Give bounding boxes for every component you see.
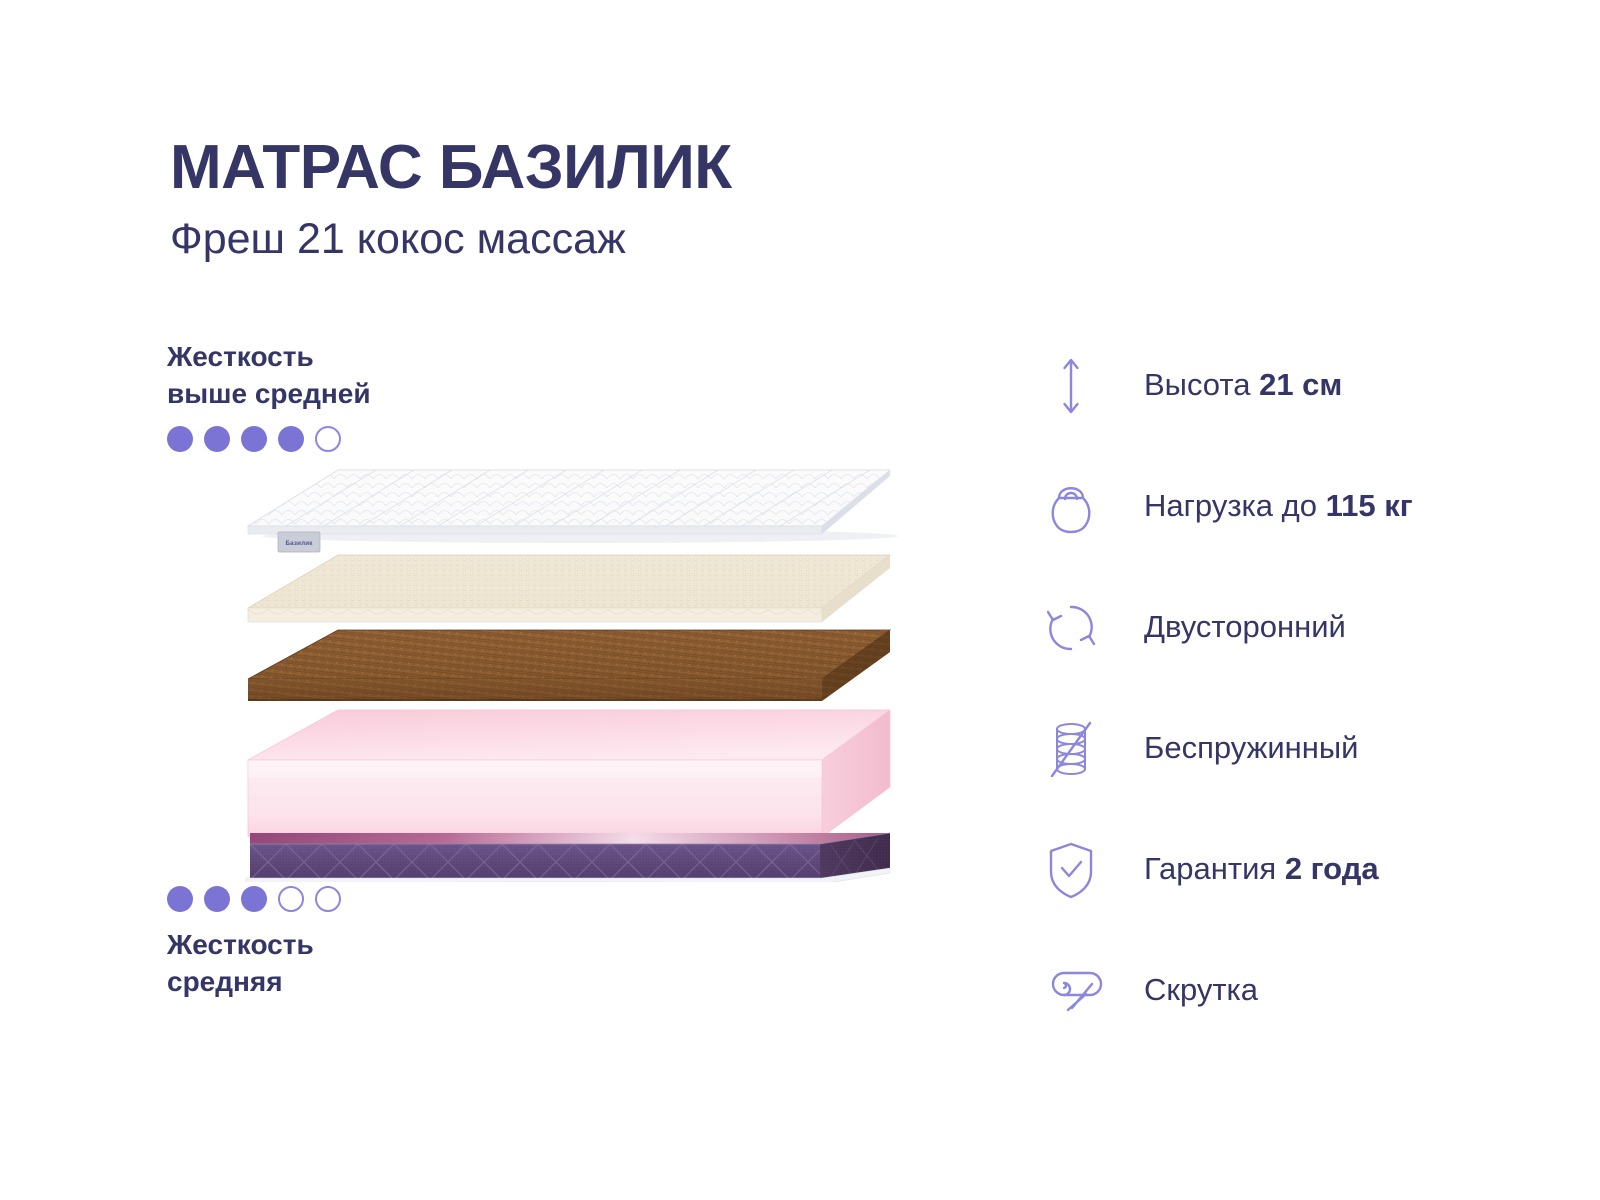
feature-list: Высота 21 см Нагрузка до 115 кг [1040, 325, 1510, 1051]
brand-tag: Базилик [278, 532, 320, 552]
mattress-layer-quilted-top-cover: Базилик [248, 470, 898, 552]
mattress-layer-coconut-coir [248, 630, 890, 701]
feature-item-roll-packed: Скрутка [1040, 930, 1510, 1051]
feature-label-max-load: Нагрузка до 115 кг [1144, 489, 1413, 523]
firmness-dot-filled [241, 886, 267, 912]
firmness-top-label: Жесткость выше средней [167, 338, 371, 412]
firmness-dot-empty [278, 886, 304, 912]
mattress-layer-quilted-bottom-cover [240, 833, 890, 882]
feature-label-springless: Беспружинный [1144, 731, 1359, 765]
firmness-dot-filled [241, 426, 267, 452]
firmness-dot-empty [315, 426, 341, 452]
firmness-indicator-top: Жесткость выше средней [167, 338, 371, 452]
feature-label-double-sided: Двусторонний [1144, 610, 1346, 644]
firmness-dot-empty [315, 886, 341, 912]
firmness-dot-filled [167, 886, 193, 912]
feature-label-height: Высота 21 см [1144, 368, 1342, 402]
roll-icon [1040, 953, 1102, 1029]
firmness-bottom-dots [167, 886, 341, 912]
brand-tag-text: Базилик [285, 540, 313, 547]
feature-item-max-load: Нагрузка до 115 кг [1040, 446, 1510, 567]
feature-item-double-sided: Двусторонний [1040, 567, 1510, 688]
feature-item-warranty: Гарантия 2 года [1040, 809, 1510, 930]
feature-label-warranty: Гарантия 2 года [1144, 852, 1379, 886]
mattress-layer-foam-core [248, 710, 890, 837]
feature-label-roll-packed: Скрутка [1144, 973, 1258, 1007]
firmness-dot-filled [167, 426, 193, 452]
feature-item-height: Высота 21 см [1040, 325, 1510, 446]
rotate-icon [1040, 590, 1102, 666]
mattress-layer-massage-foam [248, 555, 890, 622]
page-title: МАТРАС БАЗИЛИК [170, 137, 732, 199]
shield-check-icon [1040, 832, 1102, 908]
product-title-block: МАТРАС БАЗИЛИК Фреш 21 кокос массаж [170, 137, 732, 261]
firmness-dot-filled [204, 886, 230, 912]
kettlebell-icon [1040, 469, 1102, 545]
mattress-layer-diagram: Базилик [230, 452, 930, 882]
firmness-indicator-bottom: Жесткость средняя [167, 886, 341, 1000]
firmness-bottom-label: Жесткость средняя [167, 926, 341, 1000]
feature-item-springless: Беспружинный [1040, 688, 1510, 809]
no-spring-icon [1040, 711, 1102, 787]
infographic-page: МАТРАС БАЗИЛИК Фреш 21 кокос массаж Жест… [0, 0, 1600, 1200]
firmness-top-dots [167, 426, 371, 452]
firmness-dot-filled [204, 426, 230, 452]
product-subtitle: Фреш 21 кокос массаж [170, 218, 732, 261]
firmness-dot-filled [278, 426, 304, 452]
height-arrow-icon [1040, 348, 1102, 424]
